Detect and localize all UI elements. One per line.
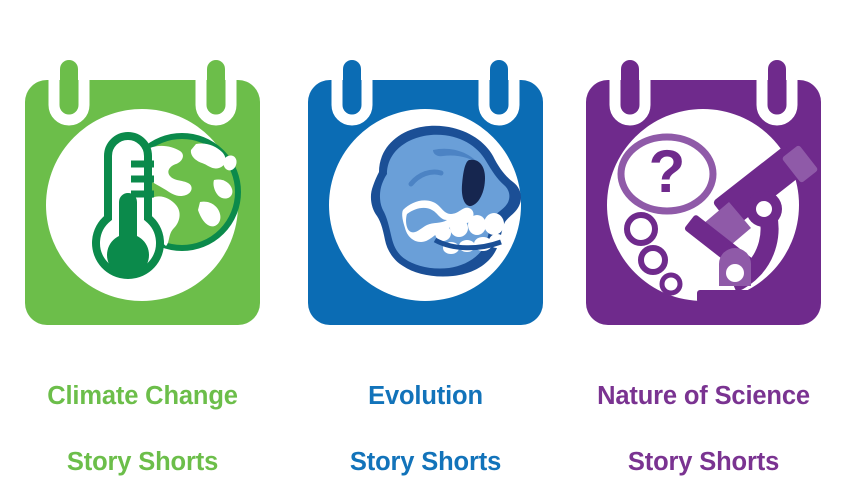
nature-of-science-badge-svg: ? (561, 52, 846, 332)
card-title-line2: Story Shorts (561, 446, 846, 479)
card-title-line1: Nature of Science (561, 380, 846, 413)
card-evolution[interactable]: Evolution Story Shorts (283, 0, 568, 482)
card-title-nature-of-science: Nature of Science Story Shorts (561, 347, 846, 482)
badge-nature-of-science[interactable]: ? (561, 52, 846, 332)
badge-evolution[interactable] (283, 52, 568, 332)
card-title-line2: Story Shorts (283, 446, 568, 479)
card-title-line1: Evolution (283, 380, 568, 413)
climate-change-badge-svg (0, 52, 285, 332)
card-title-line1: Climate Change (0, 380, 285, 413)
card-nature-of-science[interactable]: ? Nature of Science Story Shorts (561, 0, 846, 482)
story-shorts-board: Climate Change Story Shorts (0, 0, 857, 482)
question-mark-glyph: ? (649, 138, 686, 205)
card-title-evolution: Evolution Story Shorts (283, 347, 568, 482)
card-title-line2: Story Shorts (0, 446, 285, 479)
evolution-badge-svg (283, 52, 568, 332)
badge-climate-change[interactable] (0, 52, 285, 332)
card-climate-change[interactable]: Climate Change Story Shorts (0, 0, 285, 482)
microscope-base (697, 290, 793, 303)
card-title-climate-change: Climate Change Story Shorts (0, 347, 285, 482)
